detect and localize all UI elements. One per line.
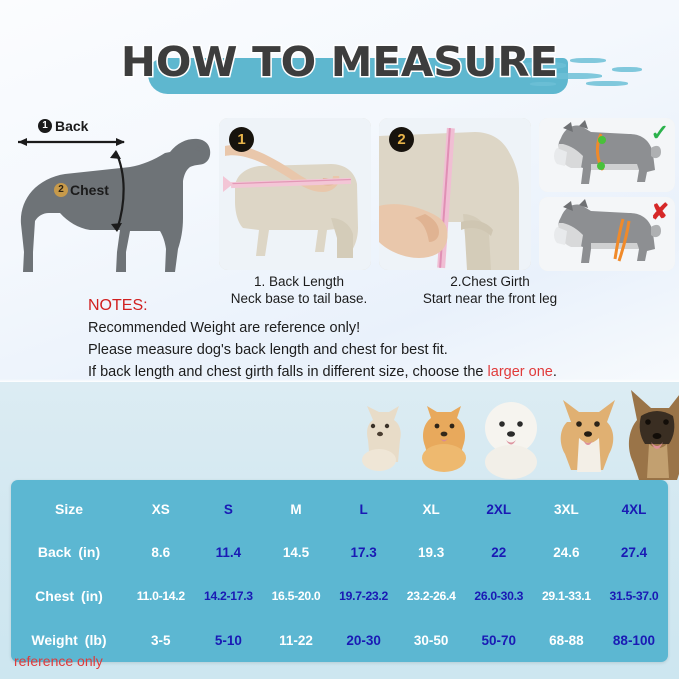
cell-size-xl: XL xyxy=(397,502,465,517)
notes-line-3-text: If back length and chest girth falls in … xyxy=(88,364,488,380)
badge-two-icon: 2 xyxy=(54,183,68,197)
caption-chest-girth: 2.Chest Girth Start near the front leg xyxy=(400,274,580,308)
chest-label-text: Chest xyxy=(70,182,109,198)
notes-body: Recommended Weight are reference only! P… xyxy=(88,318,668,383)
cell-back-m: 14.5 xyxy=(262,545,330,560)
page-title: HOW TO MEASURE xyxy=(0,38,679,86)
cell-chest-m: 16.5-20.0 xyxy=(262,589,330,603)
table-row-size: Size XS S M L XL 2XL 3XL 4XL xyxy=(11,492,668,526)
cell-back-3xl: 24.6 xyxy=(533,545,601,560)
dog-breeds-illustration xyxy=(345,382,679,482)
cell-chest-2xl: 26.0-30.3 xyxy=(465,589,533,603)
notes-line-1: Recommended Weight are reference only! xyxy=(88,318,668,340)
cell-weight-xl: 30-50 xyxy=(397,633,465,648)
cell-size-s: S xyxy=(195,502,263,517)
top-section: HOW TO MEASURE 1 Back 2 Chest xyxy=(0,0,679,382)
cell-size-2xl: 2XL xyxy=(465,502,533,517)
cell-weight-2xl: 50-70 xyxy=(465,633,533,648)
notes-line-3: If back length and chest girth falls in … xyxy=(88,362,668,384)
check-icon: ✓ xyxy=(651,122,669,144)
cell-back-s: 11.4 xyxy=(195,545,263,560)
cell-back-4xl: 27.4 xyxy=(600,545,668,560)
row-label-weight: Weight (lb) xyxy=(11,632,127,648)
photo-badge-one: 1 xyxy=(229,127,254,152)
back-label-text: Back xyxy=(55,118,88,134)
cell-weight-4xl: 88-100 xyxy=(600,633,668,648)
cell-chest-xl: 23.2-26.4 xyxy=(397,589,465,603)
cell-chest-s: 14.2-17.3 xyxy=(195,589,263,603)
notes-heading: NOTES: xyxy=(88,297,148,315)
table-row-weight: Weight (lb) 3-5 5-10 11-22 20-30 30-50 5… xyxy=(11,623,668,657)
cell-chest-l: 19.7-23.2 xyxy=(330,589,398,603)
cell-back-xs: 8.6 xyxy=(127,545,195,560)
photo-correct-method: ✓ xyxy=(539,118,675,192)
cell-weight-s: 5-10 xyxy=(195,633,263,648)
dog-size-photo-strip xyxy=(345,382,679,482)
title-banner: HOW TO MEASURE xyxy=(0,38,679,98)
cell-weight-l: 20-30 xyxy=(330,633,398,648)
notes-line-3-end: . xyxy=(553,364,557,380)
photo-back-length: 1 xyxy=(219,118,371,270)
notes-highlight: larger one xyxy=(488,364,553,380)
cell-weight-3xl: 68-88 xyxy=(533,633,601,648)
table-row-chest: Chest (in) 11.0-14.2 14.2-17.3 16.5-20.0… xyxy=(11,579,668,613)
cell-chest-3xl: 29.1-33.1 xyxy=(533,589,601,603)
cell-size-4xl: 4XL xyxy=(600,502,668,517)
cell-size-l: L xyxy=(330,502,398,517)
caption-1-line-1: 1. Back Length xyxy=(219,274,379,291)
badge-one-icon: 1 xyxy=(38,119,52,133)
caption-1-line-2: Neck base to tail base. xyxy=(219,291,379,308)
cell-size-xs: XS xyxy=(127,502,195,517)
cell-size-m: M xyxy=(262,502,330,517)
caption-2-line-2: Start near the front leg xyxy=(400,291,580,308)
cell-chest-xs: 11.0-14.2 xyxy=(127,589,195,603)
chest-measure-label: 2 Chest xyxy=(54,182,109,198)
size-chart-table: Size XS S M L XL 2XL 3XL 4XL Back (in) 8… xyxy=(11,480,668,662)
cell-weight-m: 11-22 xyxy=(262,633,330,648)
caption-back-length: 1. Back Length Neck base to tail base. xyxy=(219,274,379,308)
notes-line-2: Please measure dog's back length and che… xyxy=(88,340,668,362)
cell-weight-xs: 3-5 xyxy=(127,633,195,648)
photo-badge-two: 2 xyxy=(389,127,414,152)
cell-back-2xl: 22 xyxy=(465,545,533,560)
row-label-chest: Chest (in) xyxy=(11,588,127,604)
table-row-back: Back (in) 8.6 11.4 14.5 17.3 19.3 22 24.… xyxy=(11,535,668,569)
photo-incorrect-method: ✘ xyxy=(539,197,675,271)
cell-size-3xl: 3XL xyxy=(533,502,601,517)
dog-silhouette-diagram: 1 Back 2 Chest xyxy=(2,112,216,278)
table-footnote: reference only xyxy=(14,653,103,669)
caption-2-line-1: 2.Chest Girth xyxy=(400,274,580,291)
cell-back-xl: 19.3 xyxy=(397,545,465,560)
photo-chest-girth: 2 xyxy=(379,118,531,270)
cell-back-l: 17.3 xyxy=(330,545,398,560)
back-measure-label: 1 Back xyxy=(38,118,88,134)
dog-silhouette-icon xyxy=(2,112,216,278)
row-label-size: Size xyxy=(11,501,127,517)
cross-icon: ✘ xyxy=(651,201,669,223)
cell-chest-4xl: 31.5-37.0 xyxy=(600,589,668,603)
row-label-back: Back (in) xyxy=(11,544,127,560)
